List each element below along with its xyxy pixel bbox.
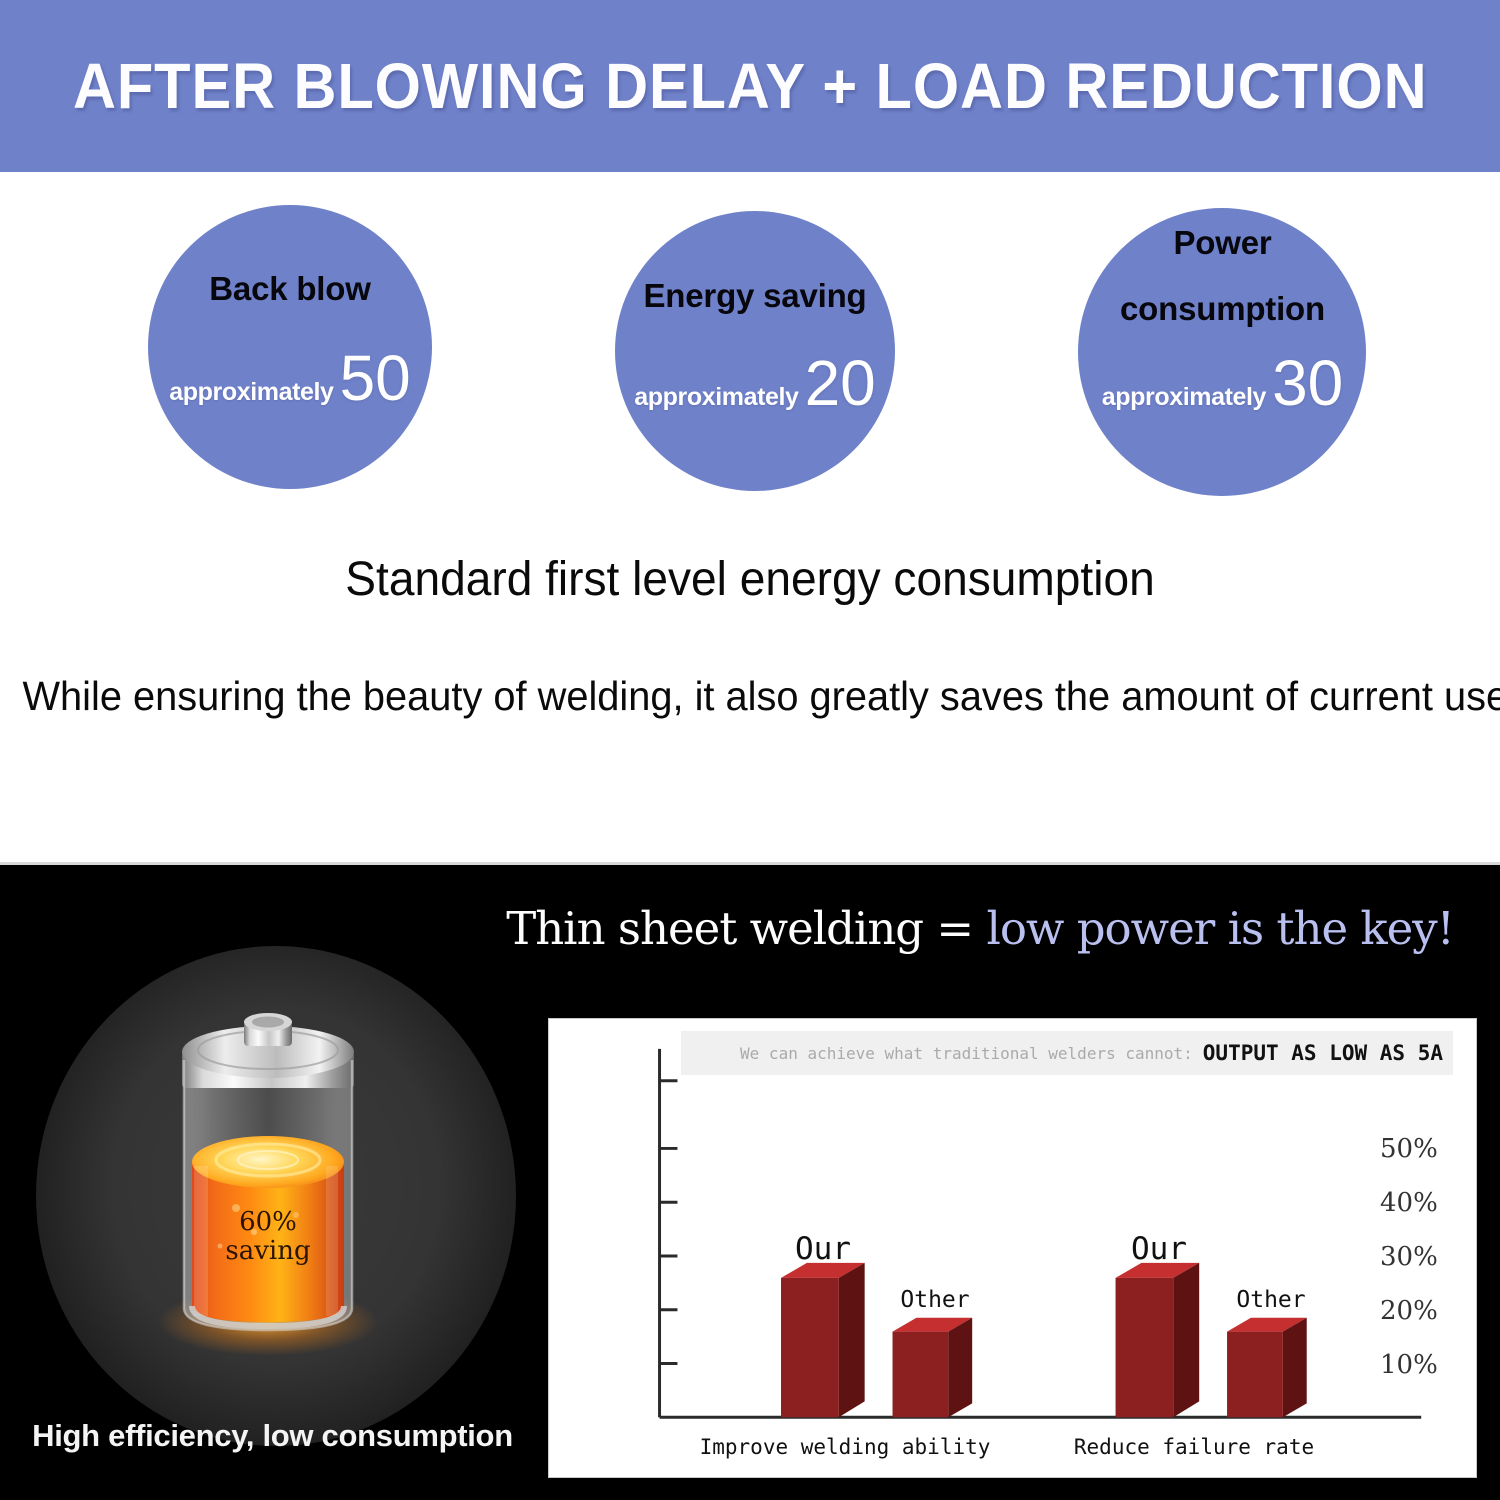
tagline-white-part: Thin sheet welding = xyxy=(506,902,986,955)
stat-circle-power-consumption-approx: approximately xyxy=(1102,383,1266,412)
bar-group-1-other xyxy=(893,1318,973,1418)
stat-circle-back-blow-number: 50 xyxy=(340,350,411,408)
page-title: AFTER BLOWING DELAY + LOAD REDUCTION xyxy=(73,49,1428,123)
middle-headline: Standard first level energy consumption xyxy=(30,552,1470,607)
stat-circle-power-consumption-label-1: Power xyxy=(1075,222,1370,264)
stat-circle-energy-saving-label: Energy saving xyxy=(610,275,900,317)
stat-circle-power-consumption-label-2: consumption xyxy=(1075,288,1370,330)
bar-label-group1-our: Our xyxy=(795,1231,851,1267)
bar-group-2-our xyxy=(1116,1263,1200,1417)
stat-circle-power-consumption-number: 30 xyxy=(1272,355,1343,413)
stat-circle-back-blow-label: Back blow xyxy=(148,268,432,310)
bar-label-group2-our: Our xyxy=(1131,1231,1187,1267)
xcat-label-0: Improve welding ability xyxy=(700,1435,991,1459)
chart-panel: We can achieve what traditional welders … xyxy=(548,1018,1477,1478)
stat-circle-energy-saving-value-row: approximately 20 xyxy=(610,355,900,413)
bar-label-group2-other: Other xyxy=(1236,1287,1305,1313)
stat-circle-energy-saving-number: 20 xyxy=(805,355,876,413)
battery-fill-label: 60% saving xyxy=(158,1208,378,1266)
bar-group-1-our xyxy=(781,1263,865,1417)
battery-caption: High efficiency, low consumption xyxy=(0,1418,545,1454)
dark-section-tagline: Thin sheet welding = low power is the ke… xyxy=(470,902,1490,955)
chart-bars xyxy=(549,1019,1476,1477)
infographic-page: AFTER BLOWING DELAY + LOAD REDUCTION Bac… xyxy=(0,0,1500,1500)
header-band: AFTER BLOWING DELAY + LOAD REDUCTION xyxy=(0,0,1500,172)
stat-circle-back-blow-value-row: approximately 50 xyxy=(148,350,432,408)
stat-circle-power-consumption-value-row: approximately 30 xyxy=(1075,355,1370,413)
middle-subline: While ensuring the beauty of welding, it… xyxy=(23,673,1478,720)
stat-circle-back-blow-approx: approximately xyxy=(169,378,333,407)
battery-icon xyxy=(158,1000,378,1360)
xcat-label-1: Reduce failure rate xyxy=(1074,1435,1314,1459)
battery-fill-label-line2: saving xyxy=(158,1237,378,1266)
bar-group-2-other xyxy=(1227,1318,1307,1418)
battery-fill-label-line1: 60% xyxy=(158,1208,378,1237)
battery-illustration: 60% saving xyxy=(158,1000,378,1360)
tagline-blue-part: low power is the key! xyxy=(986,902,1453,955)
stat-circle-energy-saving-approx: approximately xyxy=(634,383,798,412)
bar-label-group1-other: Other xyxy=(900,1287,969,1313)
